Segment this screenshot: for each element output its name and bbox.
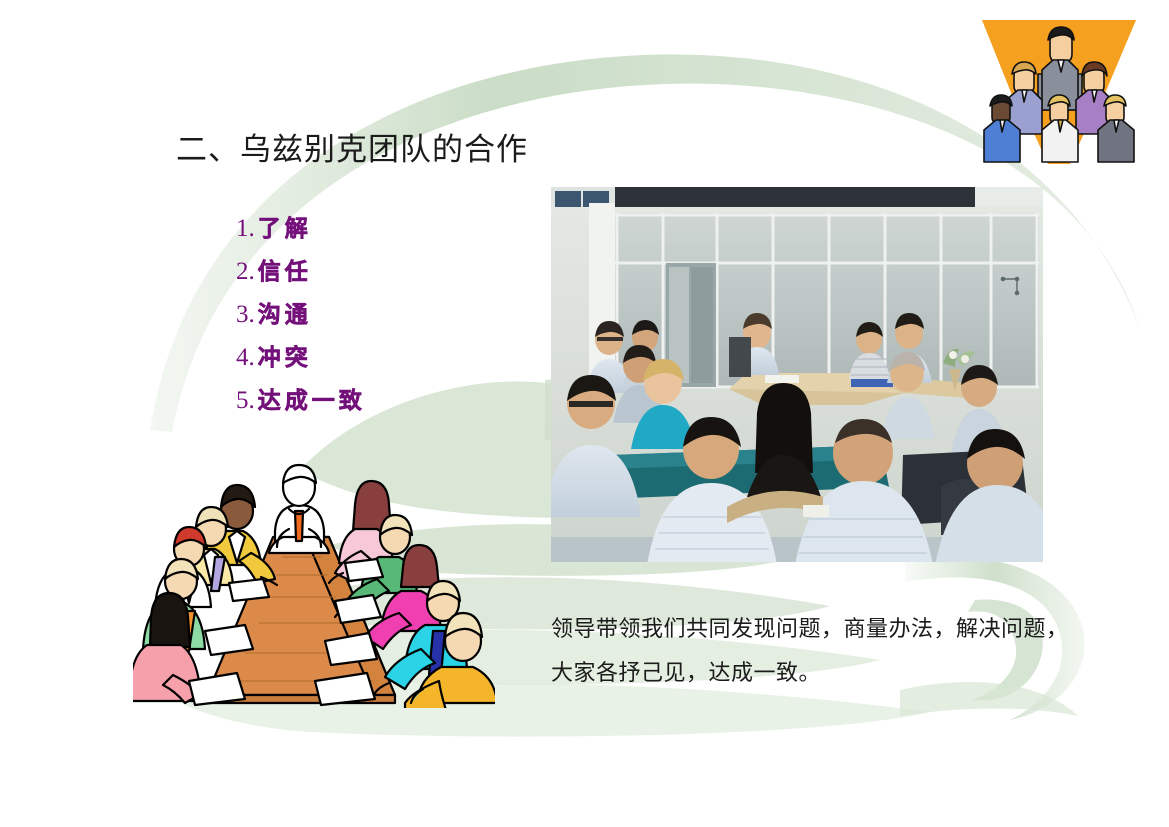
list-item-number: 1.	[236, 216, 255, 241]
slide-canvas: 二、乌兹别克团队的合作 1. 了解 2. 信任 3. 沟通 4. 冲突 5. 达…	[0, 0, 1169, 827]
list-item-label: 信任	[258, 260, 312, 285]
list-item: 4. 冲突	[236, 345, 566, 388]
caption-line-1: 领导带领我们共同发现问题，商量办法，解决问题，	[551, 607, 1111, 651]
list-item-label: 了解	[258, 217, 312, 242]
page-title: 二、乌兹别克团队的合作	[176, 130, 528, 170]
list-item: 1. 了解	[236, 216, 566, 259]
list-item-number: 3.	[236, 302, 255, 327]
caption-line-2: 大家各抒己见，达成一致。	[551, 651, 1111, 695]
list-item: 3. 沟通	[236, 302, 566, 345]
list-item-number: 2.	[236, 259, 255, 284]
list-item: 5. 达成一致	[236, 388, 566, 431]
list-item-label: 达成一致	[258, 389, 366, 414]
conference-table-clipart	[133, 445, 495, 708]
list-item-label: 冲突	[258, 346, 312, 371]
team-pyramid-clipart	[978, 14, 1140, 166]
meeting-room-photo	[551, 187, 1043, 562]
numbered-list: 1. 了解 2. 信任 3. 沟通 4. 冲突 5. 达成一致	[236, 216, 566, 431]
list-item-label: 沟通	[258, 303, 312, 328]
list-item: 2. 信任	[236, 259, 566, 302]
list-item-number: 4.	[236, 345, 255, 370]
photo-caption: 领导带领我们共同发现问题，商量办法，解决问题， 大家各抒己见，达成一致。	[551, 607, 1111, 695]
list-item-number: 5.	[236, 388, 255, 413]
